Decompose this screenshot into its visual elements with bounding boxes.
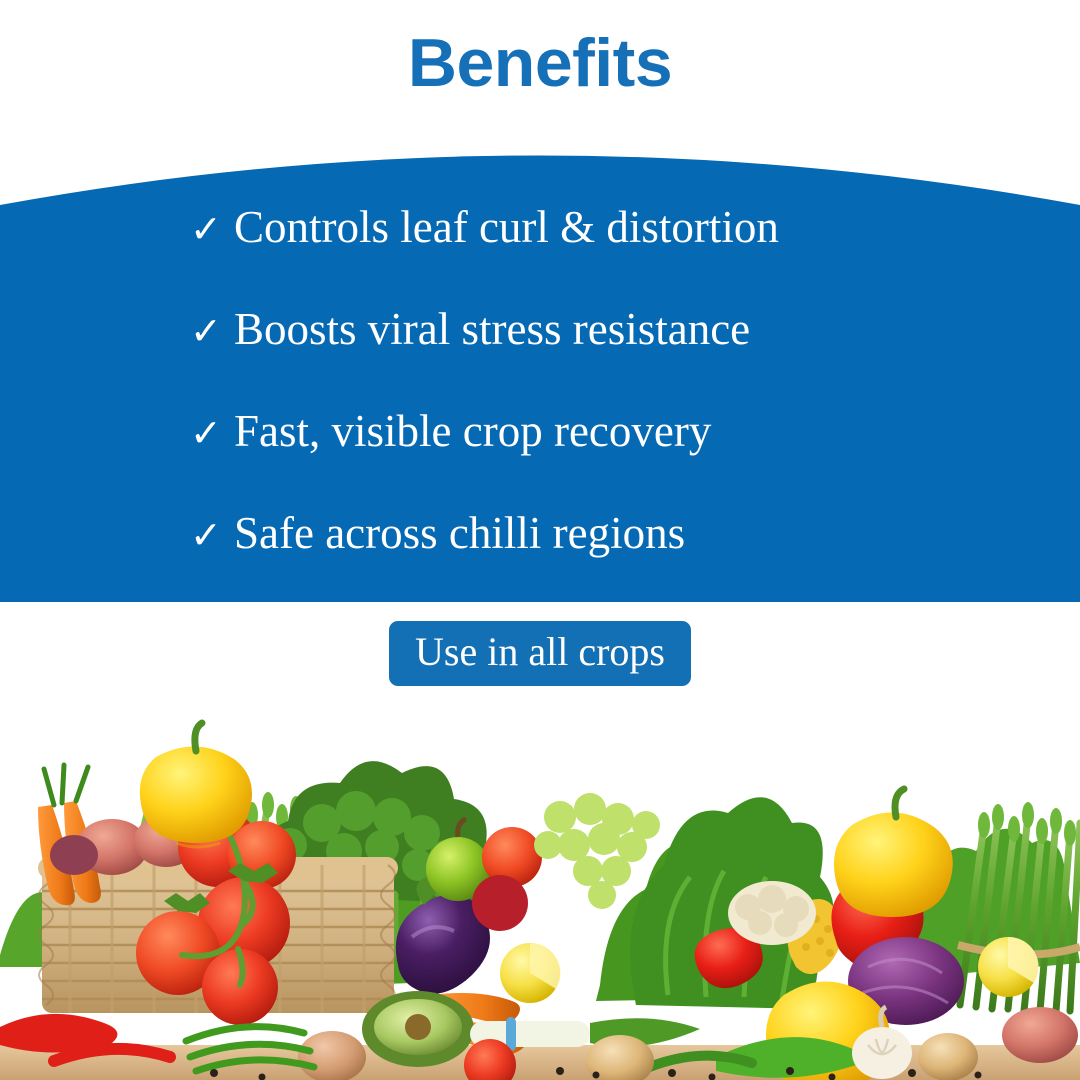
benefit-item: ✓ Boosts viral stress resistance	[190, 306, 750, 353]
check-icon: ✓	[190, 312, 234, 350]
title-zone: Benefits	[0, 0, 1080, 132]
page-title: Benefits	[408, 29, 672, 103]
benefit-label: Safe across chilli regions	[234, 510, 685, 557]
badge-zone: Use in all crops	[0, 602, 1080, 705]
benefits-list: ✓ Controls leaf curl & distortion ✓ Boos…	[0, 128, 1080, 602]
produce-photo	[0, 705, 1080, 1080]
check-icon: ✓	[190, 210, 234, 248]
benefit-item: ✓ Safe across chilli regions	[190, 510, 685, 557]
benefit-label: Controls leaf curl & distortion	[234, 204, 779, 251]
benefits-panel: ✓ Controls leaf curl & distortion ✓ Boos…	[0, 128, 1080, 602]
benefit-label: Fast, visible crop recovery	[234, 408, 711, 455]
benefits-infographic: Benefits ✓ Controls leaf curl & distorti…	[0, 0, 1080, 1080]
use-in-all-crops-badge: Use in all crops	[389, 621, 691, 686]
benefit-item: ✓ Fast, visible crop recovery	[190, 408, 711, 455]
benefit-item: ✓ Controls leaf curl & distortion	[190, 204, 779, 251]
check-icon: ✓	[190, 516, 234, 554]
check-icon: ✓	[190, 414, 234, 452]
benefit-label: Boosts viral stress resistance	[234, 306, 750, 353]
produce-illustration	[0, 705, 1080, 1080]
